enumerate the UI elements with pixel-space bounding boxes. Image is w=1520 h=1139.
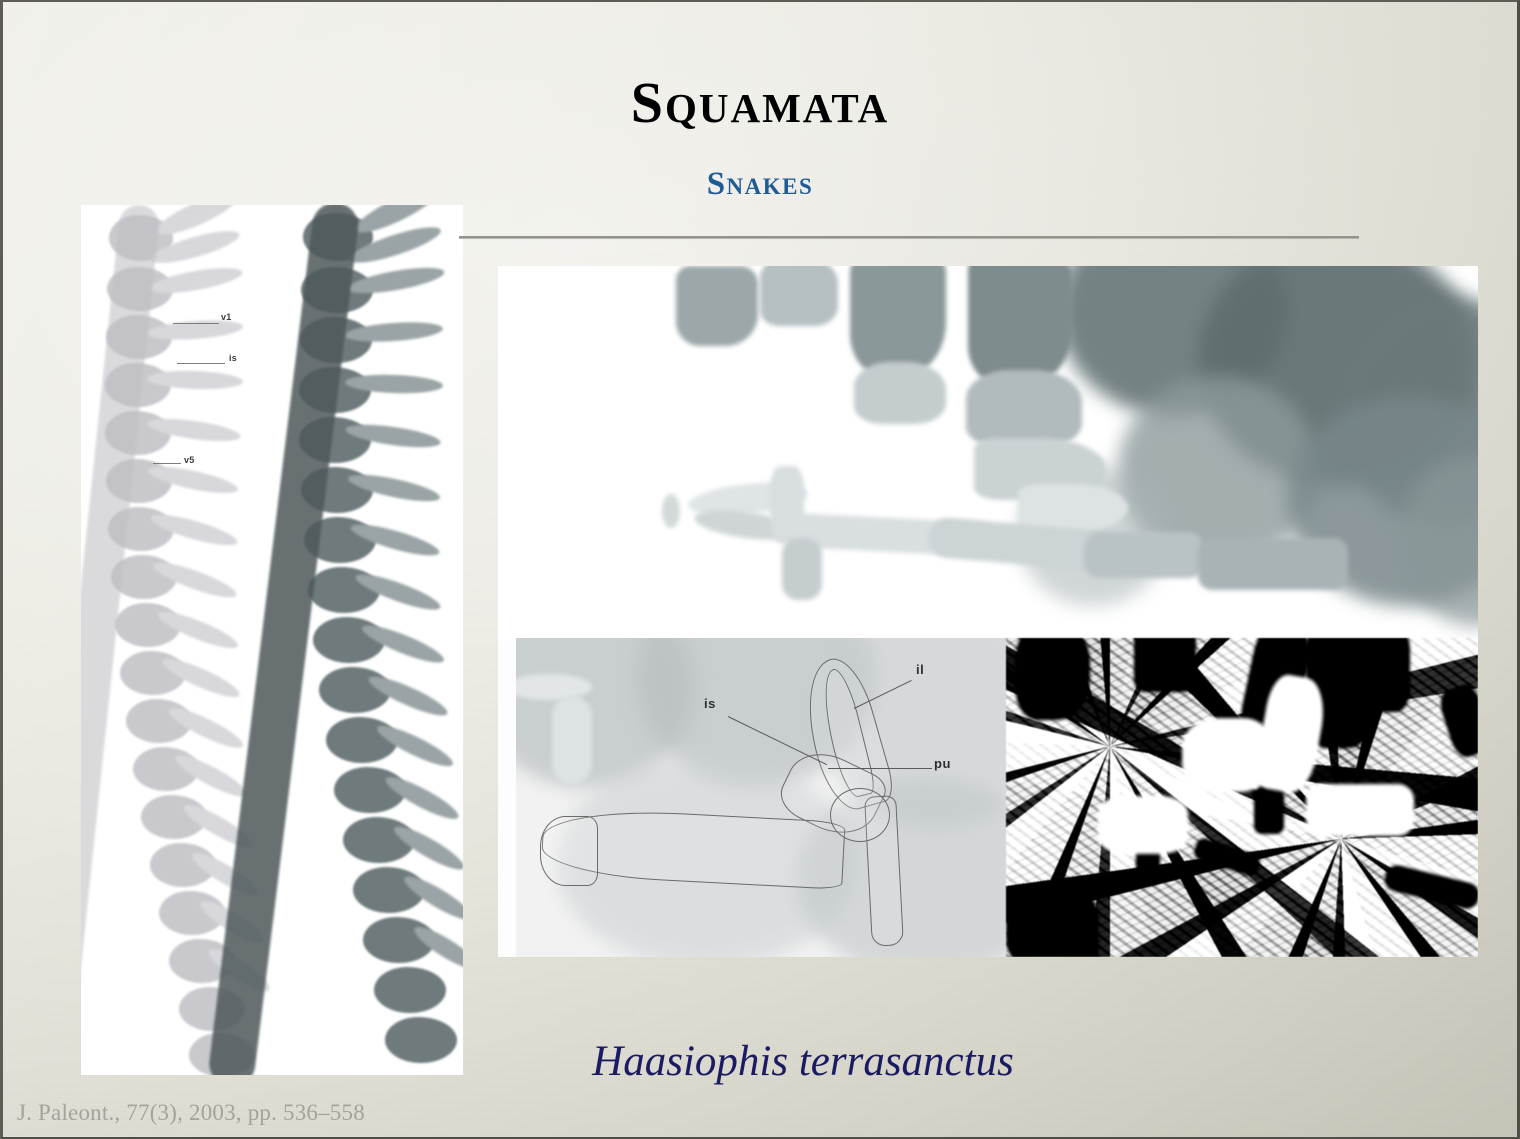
drawing-label-pu: pu bbox=[934, 756, 951, 771]
vertebral-column-pale bbox=[91, 205, 241, 1075]
radiograph-plate: v1 is v5 bbox=[81, 205, 463, 1075]
right-figure-panel: il is pu bbox=[498, 266, 1478, 957]
vertebral-column-dark bbox=[281, 205, 446, 1075]
fossil-specimen-photograph bbox=[1006, 638, 1478, 957]
source-citation: J. Paleont., 77(3), 2003, pp. 536–558 bbox=[17, 1100, 365, 1126]
radiograph-label-v5: v5 bbox=[184, 455, 195, 465]
left-radiograph-panel: v1 is v5 bbox=[81, 205, 463, 1075]
species-caption: Haasiophis terrasanctus bbox=[303, 1040, 1303, 1083]
leader-line-is bbox=[177, 363, 225, 364]
radiograph-label-is: is bbox=[229, 353, 237, 363]
drawing-label-is: is bbox=[704, 696, 716, 711]
radiograph-label-v1: v1 bbox=[221, 312, 232, 322]
xray-vertebrae-hindlimb bbox=[498, 266, 1478, 641]
outline-acetabulum bbox=[830, 788, 890, 842]
drawing-label-il: il bbox=[916, 662, 924, 677]
page-title: Squamata bbox=[3, 74, 1517, 132]
pelvic-girdle-line-drawing: il is pu bbox=[516, 638, 1026, 957]
page-subtitle: Snakes bbox=[3, 168, 1517, 201]
leader-line-v5 bbox=[153, 463, 181, 464]
leader-line-v1 bbox=[173, 323, 219, 324]
header-divider bbox=[459, 236, 1359, 239]
outline-femur-head bbox=[540, 816, 598, 886]
presentation-slide: Squamata Snakes bbox=[0, 0, 1520, 1139]
leader-line-pu bbox=[828, 768, 932, 769]
